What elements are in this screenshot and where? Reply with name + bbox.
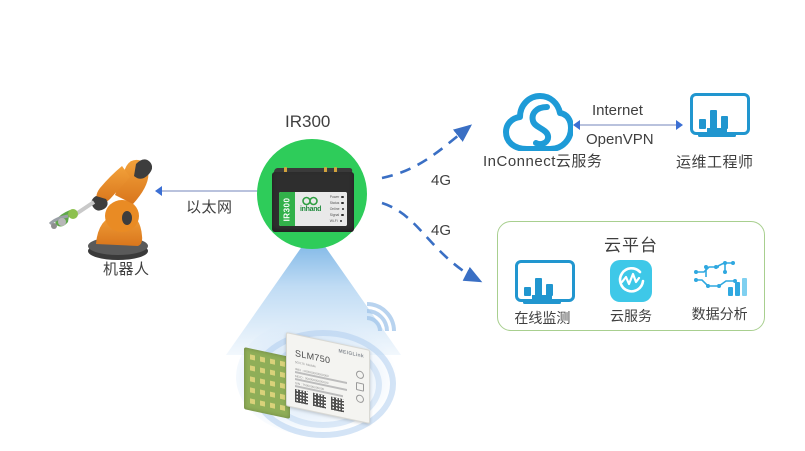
- openvpn-label: OpenVPN: [586, 131, 654, 148]
- engineer-label: 运维工程师: [676, 151, 754, 172]
- monitor-bars: [699, 107, 728, 129]
- diagram-canvas: 机器人 以太网 IR300 IR300 inhand Power Stat: [0, 0, 805, 451]
- module-mark-icon: [356, 382, 364, 392]
- inconnect-cloud-icon: [503, 93, 573, 151]
- module-qr-code: [295, 389, 308, 405]
- cloud-platform-panel: 云平台 在线监测 云服务: [497, 221, 765, 331]
- link-4g-lower: [382, 203, 480, 281]
- link-4g-lower-label: 4G: [431, 222, 451, 239]
- module-qr-code: [313, 393, 326, 409]
- internet-link-line: [578, 124, 678, 126]
- module-qr-code: [331, 397, 344, 413]
- platform-item-cloud-service[interactable]: 云服务: [591, 260, 671, 326]
- module-brand: MEIGLink: [339, 348, 364, 359]
- platform-item-label: 在线监测: [514, 308, 570, 328]
- module-mark-icon: [356, 370, 364, 380]
- internet-label: Internet: [592, 102, 643, 119]
- platform-item-label: 云服务: [610, 306, 652, 326]
- module-pcb-back: [244, 347, 290, 419]
- internet-arrow-right: [676, 120, 683, 130]
- inconnect-cloud-label: InConnect云服务: [483, 150, 602, 171]
- platform-item-label: 数据分析: [692, 304, 748, 324]
- module-mark-icon: [356, 394, 364, 404]
- platform-title: 云平台: [498, 231, 764, 256]
- engineer-monitor-icon: [690, 93, 744, 137]
- platform-item-online-monitoring[interactable]: 在线监测: [502, 260, 582, 328]
- platform-item-data-analysis[interactable]: 数据分析: [680, 260, 760, 324]
- data-analysis-icon: [692, 260, 748, 300]
- link-4g-upper-label: 4G: [431, 172, 451, 189]
- link-4g-upper: [382, 126, 470, 178]
- internet-arrow-left: [573, 120, 580, 130]
- cloud-service-icon: [610, 260, 652, 302]
- monitor-chart-icon: [515, 260, 569, 304]
